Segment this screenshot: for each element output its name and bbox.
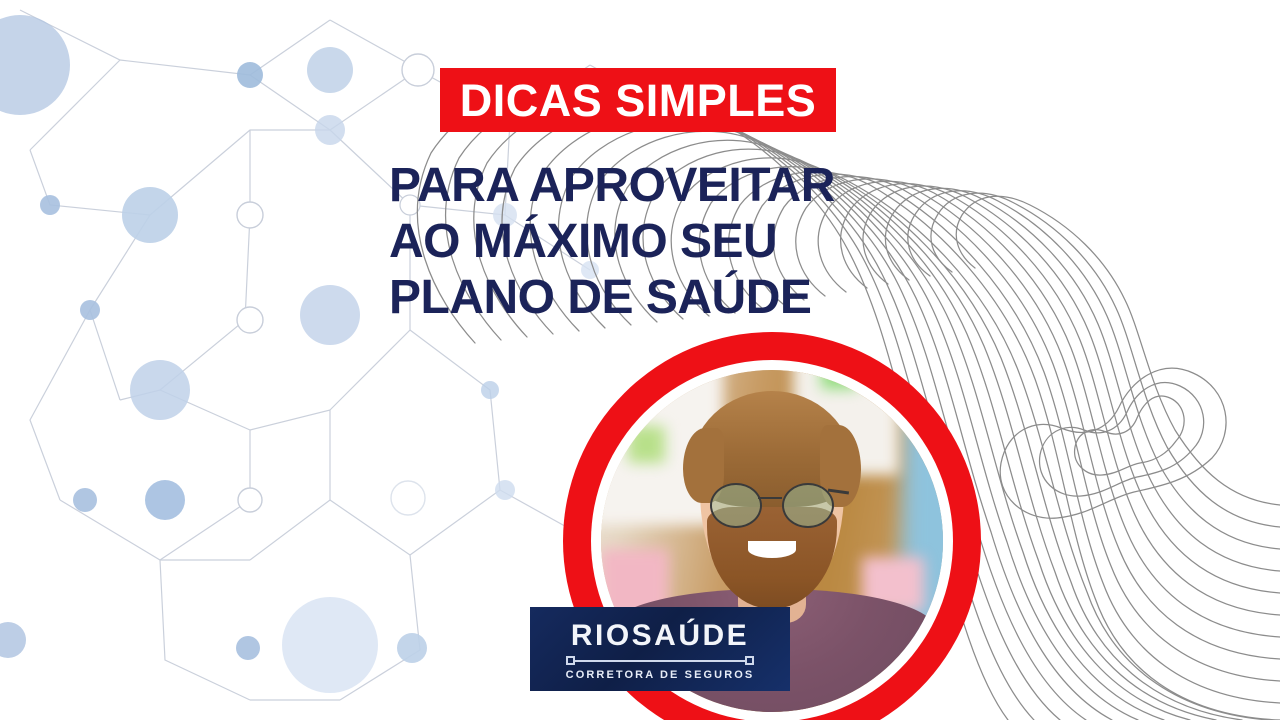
headline-line-1: PARA APROVEITAR xyxy=(389,158,949,214)
logo-divider-cap-right xyxy=(745,656,754,665)
eyeglasses-bridge xyxy=(758,497,782,499)
banner-canvas: DICAS SIMPLES PARA APROVEITAR AO MÁXIMO … xyxy=(0,0,1280,720)
eyeglasses-right-lens xyxy=(782,483,834,528)
sticky-note-green xyxy=(628,426,665,463)
person-smile xyxy=(748,541,796,558)
headline-line-3: PLANO DE SAÚDE xyxy=(389,270,949,326)
headline-line-2: AO MÁXIMO SEU xyxy=(389,214,949,270)
badge-label: DICAS SIMPLES xyxy=(460,78,817,123)
logo-divider-bar xyxy=(573,660,747,662)
logo-divider xyxy=(566,656,754,666)
logo-brand-name: RIOSAÚDE xyxy=(571,621,749,651)
logo-tagline: CORRETORA DE SEGUROS xyxy=(566,670,755,681)
brand-logo: RIOSAÚDE CORRETORA DE SEGUROS xyxy=(530,607,790,691)
contour-core xyxy=(1000,368,1226,518)
eyeglasses-left-lens xyxy=(710,483,762,528)
headline: PARA APROVEITAR AO MÁXIMO SEU PLANO DE S… xyxy=(389,158,949,326)
badge-dicas-simples: DICAS SIMPLES xyxy=(440,68,836,132)
sticky-note-green-2 xyxy=(821,370,858,389)
